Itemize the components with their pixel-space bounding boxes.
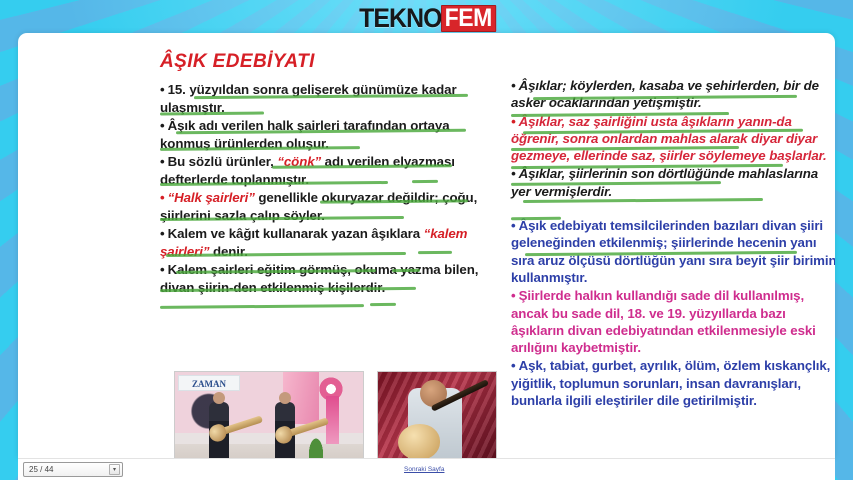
bullet-icon: • — [160, 118, 165, 133]
marker-underline — [392, 269, 420, 272]
list-item: •Aşk, tabiat, gurbet, ayrılık, ölüm, özl… — [511, 357, 835, 409]
next-page-link[interactable]: Sonraki Sayfa — [404, 466, 444, 473]
right-column: •Âşıklar; köylerden, kasaba ve şehirlerd… — [511, 77, 835, 410]
saz-body — [398, 424, 440, 458]
photo-asik-duo: ZAMAN — [174, 371, 364, 458]
list-item: •Şiirlerde halkın kullandığı sade dil ku… — [511, 287, 835, 356]
bullet-icon: • — [160, 190, 165, 205]
marker-underline — [160, 304, 364, 308]
slide-panel: ÂŞIK EDEBİYATI •15. yüzyıldan sonra geli… — [18, 33, 835, 458]
page-title: ÂŞIK EDEBİYATI — [160, 51, 821, 73]
bullet-icon: • — [511, 288, 516, 303]
site-header: TEKNO FEM — [0, 0, 853, 36]
highlighted-term: “Halk şairleri” — [168, 190, 255, 205]
left-column: •15. yüzyıldan sonra gelişerek günümüze … — [160, 81, 480, 297]
bullet-icon: • — [511, 358, 516, 373]
bullet-icon: • — [160, 82, 165, 97]
slide-content: ÂŞIK EDEBİYATI •15. yüzyıldan sonra geli… — [18, 33, 835, 458]
list-item-text-before: Bu sözlü ürünler, — [168, 154, 278, 169]
list-item-text-after: denir. — [209, 244, 247, 259]
bullet-icon: • — [511, 166, 516, 181]
bullet-icon: • — [160, 226, 165, 241]
page-indicator: 25 / 44 — [29, 465, 53, 474]
stage-floor — [175, 444, 363, 458]
list-item-text: Aşk, tabiat, gurbet, ayrılık, ölüm, özle… — [511, 358, 830, 408]
bullet-icon: • — [511, 218, 516, 233]
list-item-text: Şiirlerde halkın kullandığı sade dil kul… — [511, 288, 816, 355]
bullet-icon: • — [160, 262, 165, 277]
logo-text-primary: TEKNO — [359, 5, 441, 32]
teknofem-logo[interactable]: TEKNO FEM — [352, 5, 502, 32]
column-spacer — [511, 201, 835, 217]
viewer-toolbar: 25 / 44 ▾ Sonraki Sayfa — [18, 458, 835, 480]
list-item-text: Âşıklar, saz şairliğini usta âşıkların y… — [511, 114, 827, 164]
list-item-text-before: Kalem ve kâğıt kullanarak yazan âşıklara — [168, 226, 424, 241]
bullet-icon: • — [160, 154, 165, 169]
photo-asik-closeup — [377, 371, 497, 458]
marker-underline — [412, 180, 438, 183]
page-selector[interactable]: 25 / 44 ▾ — [23, 462, 123, 477]
photo-caption-badge: ZAMAN — [178, 375, 240, 391]
logo-text-accent: FEM — [441, 5, 496, 32]
chevron-down-icon[interactable]: ▾ — [109, 464, 120, 475]
potted-plant — [305, 430, 327, 458]
list-item: •Âşıklar, saz şairliğini usta âşıkların … — [511, 113, 835, 165]
marker-underline — [370, 303, 396, 306]
bullet-icon: • — [511, 78, 516, 93]
marker-underline — [511, 217, 561, 220]
marker-underline — [418, 251, 452, 254]
